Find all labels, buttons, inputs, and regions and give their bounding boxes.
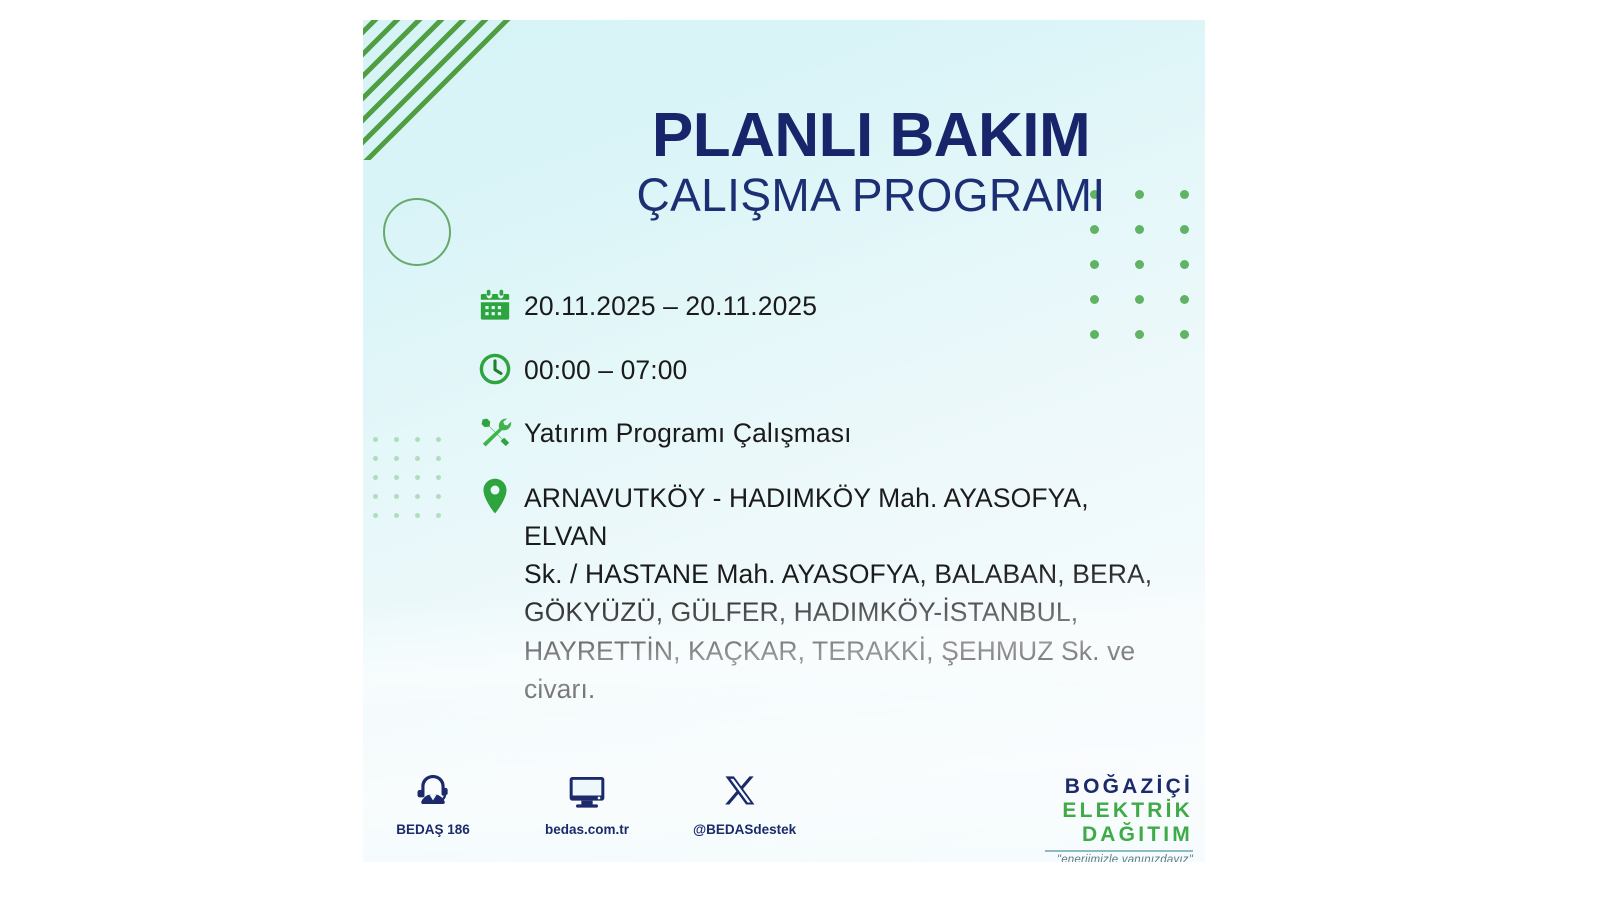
dot [415,437,420,442]
brand-line-bogazici: BOĞAZİÇİ [1045,776,1193,797]
detail-row-address: ARNAVUTKÖY - HADIMKÖY Mah. AYASOFYA, ELV… [478,476,1178,708]
calendar-icon [478,285,524,325]
dot [436,475,441,480]
dot [394,475,399,480]
planned-maintenance-poster: PLANLI BAKIM ÇALIŞMA PROGRAMI 20.11.2025… [363,20,1205,862]
poster-footer: BEDAŞ 186 bedas.com.tr [363,768,1205,862]
dot [394,513,399,518]
dot [1180,295,1189,304]
dot-grid-decoration-left [373,437,457,532]
contact-phone-label: BEDAŞ 186 [385,822,481,837]
brand-divider [1045,850,1193,852]
dot [373,494,378,499]
dot [394,456,399,461]
dot [1180,330,1189,339]
dot [1135,260,1144,269]
dot [1135,225,1144,234]
address-line: HAYRETTİN, KAÇKAR, TERAKKİ, ŞEHMUZ Sk. v… [524,632,1178,708]
dot [415,513,420,518]
dot [373,437,378,442]
contact-website-label: bedas.com.tr [539,822,635,837]
dot [394,494,399,499]
tools-icon [478,412,524,452]
contact-phone[interactable]: BEDAŞ 186 [385,768,481,837]
screenshot-canvas: PLANLI BAKIM ÇALIŞMA PROGRAMI 20.11.2025… [0,0,1600,900]
detail-text-time: 00:00 – 07:00 [524,349,687,390]
dot [373,475,378,480]
dot [394,437,399,442]
detail-row-date: 20.11.2025 – 20.11.2025 [478,285,1178,326]
dot [436,513,441,518]
dot [373,513,378,518]
dot [1180,225,1189,234]
dot [436,494,441,499]
contact-website[interactable]: bedas.com.tr [539,768,635,837]
dot [415,475,420,480]
dot [415,494,420,499]
dot [415,456,420,461]
page-title: PLANLI BAKIM [551,104,1191,167]
poster-heading-block: PLANLI BAKIM ÇALIŞMA PROGRAMI [551,104,1191,220]
brand-line-dagitim: DAĞITIM [1045,824,1193,845]
contact-channels: BEDAŞ 186 bedas.com.tr [385,768,789,837]
support-headset-icon [385,768,481,816]
detail-text-address: ARNAVUTKÖY - HADIMKÖY Mah. AYASOFYA, ELV… [524,476,1178,708]
diagonal-stripes-icon [363,20,535,160]
circle-outline-decoration [383,198,451,266]
dot [1180,260,1189,269]
contact-x-account[interactable]: @BEDASdestek [693,768,789,837]
diagonal-stripes-decoration [363,20,535,160]
brand-tagline: "enerjimizle yanınızdayız" [1045,855,1193,863]
clock-icon [478,349,524,389]
maintenance-details: 20.11.2025 – 20.11.2025 00:00 – 07:00 [478,285,1178,708]
dot [436,456,441,461]
detail-row-worktype: Yatırım Programı Çalışması [478,412,1178,453]
dot [436,437,441,442]
detail-text-date: 20.11.2025 – 20.11.2025 [524,285,817,326]
detail-text-worktype: Yatırım Programı Çalışması [524,412,852,453]
address-line: GÖKYÜZÜ, GÜLFER, HADIMKÖY-İSTANBUL, [524,593,1178,631]
address-line: ARNAVUTKÖY - HADIMKÖY Mah. AYASOFYA, ELV… [524,479,1178,555]
monitor-icon [539,768,635,816]
dot [1090,225,1099,234]
bedas-logo: BOĞAZİÇİ ELEKTRİK DAĞITIM "enerjimizle y… [1045,776,1193,862]
dot [1090,260,1099,269]
page-subtitle: ÇALIŞMA PROGRAMI [551,171,1191,219]
dot [373,456,378,461]
location-pin-icon [478,476,524,516]
x-twitter-icon [693,768,789,816]
address-line: Sk. / HASTANE Mah. AYASOFYA, BALABAN, BE… [524,555,1178,593]
brand-line-elektrik: ELEKTRİK [1045,800,1193,821]
detail-row-time: 00:00 – 07:00 [478,349,1178,390]
contact-x-label: @BEDASdestek [693,822,789,837]
